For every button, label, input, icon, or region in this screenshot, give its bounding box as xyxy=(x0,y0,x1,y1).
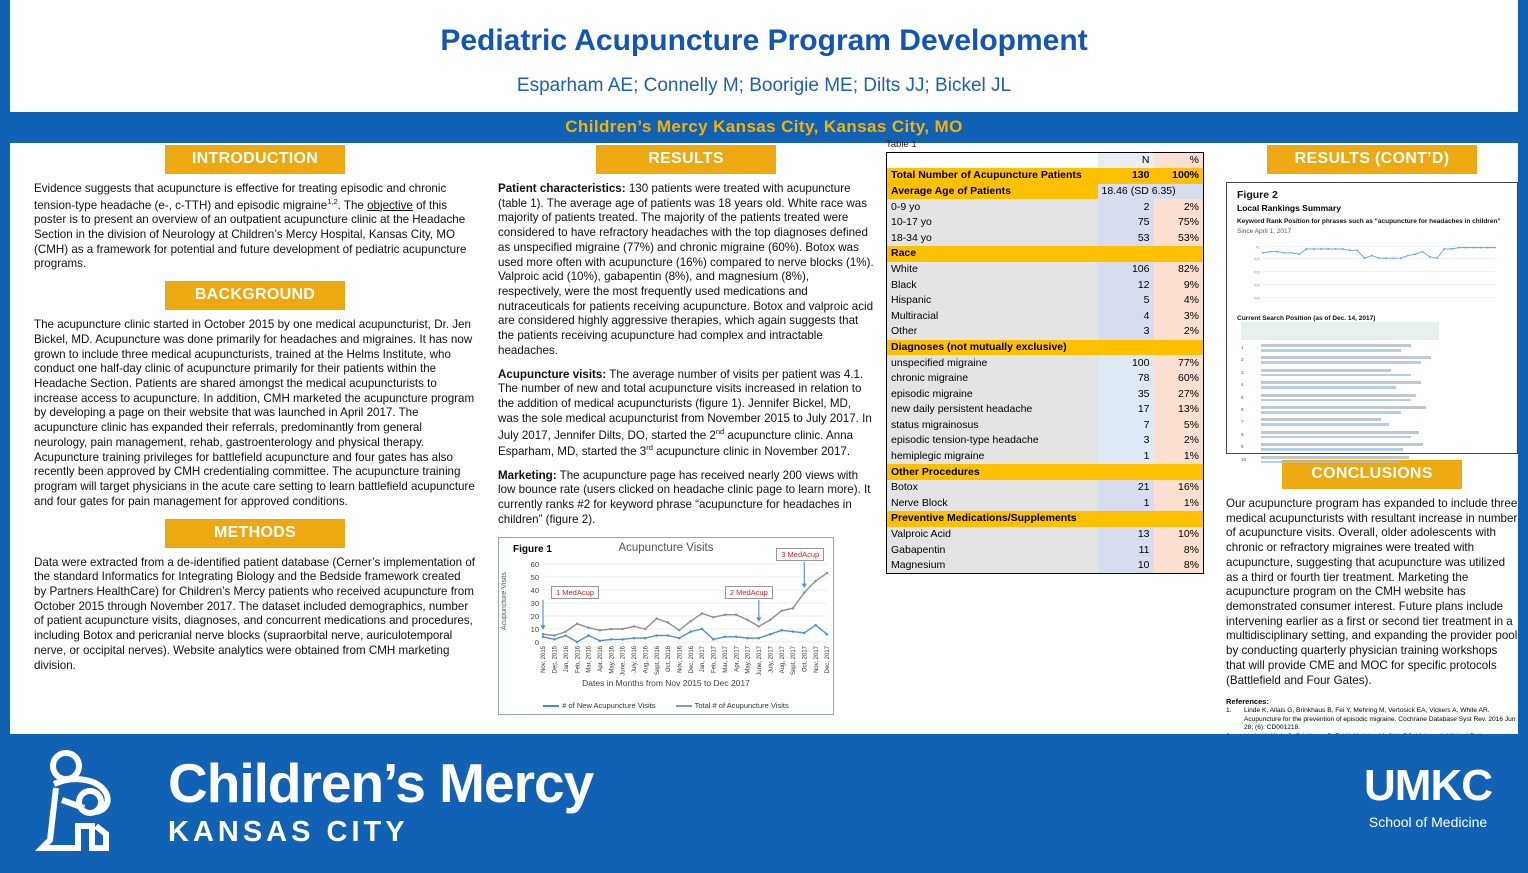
table-1-row-label: Hispanic xyxy=(887,293,1098,309)
childrens-mercy-wordmark: Children’s Mercy KANSAS CITY xyxy=(168,757,593,848)
introduction-text: Evidence suggests that acupuncture is ef… xyxy=(34,182,476,272)
table-1-row-label: Multiracial xyxy=(887,308,1098,324)
results-patient-characteristics: Patient characteristics: 130 patients we… xyxy=(498,182,874,359)
methods-text: Data were extracted from a de-identified… xyxy=(34,556,476,674)
references-heading: References: xyxy=(1226,697,1518,706)
svg-text:July, 2016: July, 2016 xyxy=(632,645,638,673)
table-1-col-head-n: N xyxy=(1098,153,1154,169)
table-row: Botox2116% xyxy=(887,480,1204,496)
figure-2-rank-chart: #1#10#20#30#40 xyxy=(1237,239,1501,311)
list-item[interactable]: 8 xyxy=(1241,430,1491,442)
table-row: Other32% xyxy=(887,324,1204,340)
search-result-title xyxy=(1261,456,1409,459)
table-row: Total Number of Acupuncture Patients1301… xyxy=(887,168,1204,184)
svg-text:June, 2017: June, 2017 xyxy=(757,645,763,675)
figure-1-x-axis-label: Dates in Months from Nov 2015 to Dec 201… xyxy=(499,678,833,688)
figure-2-heading: Local Rankings Summary xyxy=(1227,201,1517,213)
background-text: The acupuncture clinic started in Octobe… xyxy=(34,318,476,509)
list-item[interactable]: 3 xyxy=(1241,368,1491,380)
search-result-rank: 3 xyxy=(1241,370,1244,375)
svg-text:Feb, 2016: Feb, 2016 xyxy=(575,645,581,673)
table-1-row-label: White xyxy=(887,262,1098,278)
svg-text:#30: #30 xyxy=(1254,284,1260,288)
intro-part-2: . The xyxy=(338,199,367,212)
table-1-row-pct: 9% xyxy=(1154,277,1204,293)
svg-text:40: 40 xyxy=(531,586,539,595)
results-p2-label: Acupuncture visits: xyxy=(498,368,606,381)
svg-text:0: 0 xyxy=(535,638,539,647)
table-1-row-n: 3 xyxy=(1098,433,1154,449)
table-1-row-n: 1 xyxy=(1098,496,1154,512)
legend-swatch-grey xyxy=(676,705,692,707)
table-1-row-pct: 2% xyxy=(1154,433,1204,449)
search-result-rank: 7 xyxy=(1241,419,1244,424)
section-heading-background: BACKGROUND xyxy=(165,281,345,310)
table-row: Multiracial43% xyxy=(887,308,1204,324)
list-item[interactable]: 5 xyxy=(1241,393,1491,405)
figure-1-annotation: 3 MedAcup xyxy=(776,548,824,561)
svg-text:June, 2016: June, 2016 xyxy=(621,645,627,675)
table-1-caption: Table 1 xyxy=(886,139,1218,150)
table-1-section-label: Other Procedures xyxy=(887,464,1204,480)
svg-text:20: 20 xyxy=(531,612,539,621)
table-row: Race xyxy=(887,246,1204,262)
search-result-url xyxy=(1261,461,1399,464)
svg-text:Dec, 2017: Dec, 2017 xyxy=(825,645,831,673)
list-item[interactable]: 10 xyxy=(1241,455,1491,467)
figure-1-annotation: 2 MedAcup xyxy=(725,586,773,599)
svg-text:#1: #1 xyxy=(1256,245,1260,249)
table-1-row-label: new daily persistent headache xyxy=(887,402,1098,418)
svg-text:Nov, 2017: Nov, 2017 xyxy=(814,645,820,673)
figure-1-plot: 0102030405060Nov, 2015Dec, 2015Jan, 2016… xyxy=(499,538,835,716)
table-1-row-n: 17 xyxy=(1098,402,1154,418)
table-1-row-pct: 53% xyxy=(1154,230,1204,246)
legend-label-total-visits: Total # of Acupuncture Visits xyxy=(695,701,789,710)
figure-2-since-date: Since April 1, 2017 xyxy=(1227,225,1517,235)
table-row: new daily persistent headache1713% xyxy=(887,402,1204,418)
conclusions-text: Our acupuncture program has expanded to … xyxy=(1226,497,1518,688)
results-p1-label: Patient characteristics: xyxy=(498,182,626,195)
hospital-name-line-1: Children’s Mercy xyxy=(168,757,593,809)
table-1-row-n: 2 xyxy=(1098,199,1154,215)
svg-text:#40: #40 xyxy=(1254,297,1260,301)
svg-text:30: 30 xyxy=(531,599,539,608)
svg-text:Aug, 2016: Aug, 2016 xyxy=(643,645,649,673)
column-results: RESULTS Patient characteristics: 130 pat… xyxy=(490,139,882,734)
figure-1-legend: # of New Acupuncture Visits Total # of A… xyxy=(499,701,833,710)
search-result-rank: 6 xyxy=(1241,407,1244,412)
table-1-row-pct: 27% xyxy=(1154,386,1204,402)
table-1-row-n: 7 xyxy=(1098,418,1154,434)
table-1-row-n: 100 xyxy=(1098,355,1154,371)
umkc-school-label: School of Medicine xyxy=(1364,814,1492,830)
table-1-row-label: Nerve Block xyxy=(887,496,1098,512)
search-result-url xyxy=(1261,423,1389,426)
table-1-row-pct: 2% xyxy=(1154,199,1204,215)
list-item[interactable]: 4 xyxy=(1241,380,1491,392)
table-row: Preventive Medications/Supplements xyxy=(887,511,1204,527)
table-1-row-label: status migrainosus xyxy=(887,418,1098,434)
table-1-row-value-merged: 18.46 (SD 6.35) xyxy=(1098,184,1204,200)
figure-1-annotation: 1 MedAcup xyxy=(551,586,599,599)
table-1-row-label: 10-17 yo xyxy=(887,215,1098,231)
search-result-title xyxy=(1261,443,1423,446)
reference-item: 1.Linde K, Allais G, Brinkhaus B, Fei Y,… xyxy=(1226,707,1518,732)
figure-2-results-list: 12345678910 xyxy=(1241,343,1491,467)
table-1-section-label: Race xyxy=(887,246,1204,262)
table-row: Gabapentin118% xyxy=(887,542,1204,558)
svg-text:Nov, 2016: Nov, 2016 xyxy=(678,645,684,673)
table-1-row-pct: 16% xyxy=(1154,480,1204,496)
intro-objective-underline: objective xyxy=(367,199,413,212)
table-1-header-row: N% xyxy=(887,153,1204,169)
table-1-row-label: hemiplegic migraine xyxy=(887,449,1098,465)
table-1-row-label: Black xyxy=(887,277,1098,293)
table-row: 18-34 yo5353% xyxy=(887,230,1204,246)
search-result-url xyxy=(1261,411,1401,414)
table-1-row-n: 35 xyxy=(1098,386,1154,402)
legend-entry-new-visits: # of New Acupuncture Visits xyxy=(543,701,655,710)
table-1-row-label: episodic migraine xyxy=(887,386,1098,402)
table-1-row-label: Average Age of Patients xyxy=(887,184,1098,200)
legend-label-new-visits: # of New Acupuncture Visits xyxy=(562,701,655,710)
poster-body: INTRODUCTION Evidence suggests that acup… xyxy=(20,139,1528,734)
table-row: hemiplegic migraine11% xyxy=(887,449,1204,465)
search-result-url xyxy=(1261,374,1411,377)
hospital-name-line-2: KANSAS CITY xyxy=(168,816,593,849)
table-1-row-label: 0-9 yo xyxy=(887,199,1098,215)
table-row: Hispanic54% xyxy=(887,293,1204,309)
table-1-row-n: 78 xyxy=(1098,371,1154,387)
svg-text:Aug, 2017: Aug, 2017 xyxy=(780,645,786,673)
table-1-section-label: Diagnoses (not mutually exclusive) xyxy=(887,340,1204,356)
search-result-rank: 1 xyxy=(1241,345,1244,350)
page-title: Pediatric Acupuncture Program Developmen… xyxy=(10,0,1518,58)
search-result-url xyxy=(1261,386,1396,389)
list-item[interactable]: 6 xyxy=(1241,405,1491,417)
table-row: unspecified migraine10077% xyxy=(887,355,1204,371)
table-1-row-pct: 77% xyxy=(1154,355,1204,371)
column-right: RESULTS (CONT’D) Figure 2 Local Rankings… xyxy=(1222,139,1522,734)
svg-text:Oct, 2017: Oct, 2017 xyxy=(802,645,808,672)
table-1-row-label: Other xyxy=(887,324,1098,340)
svg-text:Feb, 2017: Feb, 2017 xyxy=(712,645,718,673)
table-row: 10-17 yo7575% xyxy=(887,215,1204,231)
umkc-wordmark: UMKC xyxy=(1364,764,1492,808)
column-table: Table 1 N%Total Number of Acupuncture Pa… xyxy=(882,139,1222,734)
table-1-row-n: 130 xyxy=(1098,168,1154,184)
search-result-url xyxy=(1261,361,1421,364)
search-result-rank: 5 xyxy=(1241,395,1244,400)
table-1-row-pct: 10% xyxy=(1154,527,1204,543)
section-heading-results: RESULTS xyxy=(596,145,776,174)
table-1-row-label: Botox xyxy=(887,480,1098,496)
table-1-row-label: Total Number of Acupuncture Patients xyxy=(887,168,1098,184)
results-p2-body-c: acupuncture clinic in November 2017. xyxy=(653,445,850,458)
section-heading-methods: METHODS xyxy=(165,519,345,548)
svg-text:#10: #10 xyxy=(1254,257,1260,261)
table-1-row-n: 10 xyxy=(1098,558,1154,574)
table-1-row-n: 12 xyxy=(1098,277,1154,293)
childrens-mercy-mark-icon xyxy=(32,748,152,858)
table-row: episodic migraine3527% xyxy=(887,386,1204,402)
umkc-logo: UMKC School of Medicine xyxy=(1364,764,1492,830)
table-1-section-label: Preventive Medications/Supplements xyxy=(887,511,1204,527)
search-result-title xyxy=(1261,418,1381,421)
list-item[interactable]: 7 xyxy=(1241,417,1491,429)
table-1-row-n: 13 xyxy=(1098,527,1154,543)
table-row: Nerve Block11% xyxy=(887,496,1204,512)
table-1-row-n: 11 xyxy=(1098,542,1154,558)
svg-text:Oct, 2016: Oct, 2016 xyxy=(666,645,672,672)
table-row: White10682% xyxy=(887,262,1204,278)
svg-text:50: 50 xyxy=(531,573,539,582)
figure-2-current-position-heading: Current Search Position (as of Dec. 14, … xyxy=(1227,311,1517,322)
search-result-rank: 2 xyxy=(1241,357,1244,362)
search-result-url xyxy=(1261,399,1411,402)
table-1-row-label: chronic migraine xyxy=(887,371,1098,387)
figure-1-acupuncture-visits-chart: Acupuncture Visits Figure 1 Acupuncture … xyxy=(498,537,834,715)
search-result-url xyxy=(1261,436,1411,439)
table-1-row-label: 18-34 yo xyxy=(887,230,1098,246)
table-1-row-n: 53 xyxy=(1098,230,1154,246)
figure-2-plot: #1#10#20#30#40 xyxy=(1237,239,1501,311)
author-list: Esparham AE; Connelly M; Boorigie ME; Di… xyxy=(10,58,1518,112)
table-1-row-pct: 82% xyxy=(1154,262,1204,278)
section-heading-results-contd: RESULTS (CONT’D) xyxy=(1267,145,1477,174)
search-result-title xyxy=(1261,406,1426,409)
table-1-row-n: 75 xyxy=(1098,215,1154,231)
svg-text:Apr, 2016: Apr, 2016 xyxy=(598,645,604,671)
table-1-row-pct: 60% xyxy=(1154,371,1204,387)
table-1-row-pct: 8% xyxy=(1154,558,1204,574)
search-result-rank: 8 xyxy=(1241,432,1244,437)
search-result-url xyxy=(1261,448,1403,451)
column-left: INTRODUCTION Evidence suggests that acup… xyxy=(20,139,490,734)
figure-2-results-table-header xyxy=(1241,322,1439,340)
list-item[interactable]: 9 xyxy=(1241,442,1491,454)
svg-text:May, 2017: May, 2017 xyxy=(746,645,752,673)
reference-number: 1. xyxy=(1226,707,1238,732)
table-1-row-label: Gabapentin xyxy=(887,542,1098,558)
svg-text:July, 2017: July, 2017 xyxy=(768,645,774,673)
table-1-row-n: 4 xyxy=(1098,308,1154,324)
figure-2-label: Figure 2 xyxy=(1227,183,1517,201)
table-row: Other Procedures xyxy=(887,464,1204,480)
results-p2-sup-a: nd xyxy=(716,427,724,436)
table-1-row-n: 5 xyxy=(1098,293,1154,309)
svg-text:10: 10 xyxy=(531,625,539,634)
table-1-row-n: 106 xyxy=(1098,262,1154,278)
results-marketing: Marketing: The acupuncture page has rece… xyxy=(498,469,874,528)
table-1-row-pct: 2% xyxy=(1154,324,1204,340)
childrens-mercy-logo: Children’s Mercy KANSAS CITY xyxy=(32,748,593,858)
search-result-title xyxy=(1261,356,1431,359)
svg-text:Dec, 2015: Dec, 2015 xyxy=(553,645,559,673)
svg-text:Sept, 2016: Sept, 2016 xyxy=(655,645,661,675)
table-1-row-label: episodic tension-type headache xyxy=(887,433,1098,449)
svg-text:#20: #20 xyxy=(1254,270,1260,274)
table-row: Magnesium108% xyxy=(887,558,1204,574)
table-1-row-n: 1 xyxy=(1098,449,1154,465)
svg-text:Jan, 2017: Jan, 2017 xyxy=(700,645,706,672)
svg-text:Sept, 2017: Sept, 2017 xyxy=(791,645,797,675)
search-result-title xyxy=(1261,344,1411,347)
intro-superscript: 1,2 xyxy=(327,197,337,206)
poster-canvas: Pediatric Acupuncture Program Developmen… xyxy=(0,0,1528,873)
table-1-row-pct: 5% xyxy=(1154,418,1204,434)
table-1-row-n: 21 xyxy=(1098,480,1154,496)
svg-text:60: 60 xyxy=(531,560,539,569)
svg-text:Apr, 2017: Apr, 2017 xyxy=(734,645,740,671)
search-result-title xyxy=(1261,394,1416,397)
svg-text:Jan, 2016: Jan, 2016 xyxy=(564,645,570,672)
search-result-rank: 9 xyxy=(1241,444,1244,449)
table-1-row-label: Magnesium xyxy=(887,558,1098,574)
results-p1-body: 130 patients were treated with acupunctu… xyxy=(498,182,874,357)
search-result-title xyxy=(1261,381,1421,384)
svg-text:Dec, 2016: Dec, 2016 xyxy=(689,645,695,673)
figure-2-local-rankings: Figure 2 Local Rankings Summary Keyword … xyxy=(1226,182,1518,454)
search-result-rank: 10 xyxy=(1241,457,1246,462)
footer-bar: Children’s Mercy KANSAS CITY UMKC School… xyxy=(10,734,1528,873)
table-1-row-label: Valproic Acid xyxy=(887,527,1098,543)
legend-entry-total-visits: Total # of Acupuncture Visits xyxy=(676,701,789,710)
list-item[interactable]: 1 xyxy=(1241,343,1491,355)
search-result-rank: 4 xyxy=(1241,382,1244,387)
table-1-row-pct: 4% xyxy=(1154,293,1204,309)
results-p2-sup-b: rd xyxy=(646,443,653,452)
table-1: N%Total Number of Acupuncture Patients13… xyxy=(886,152,1204,574)
table-row: Black129% xyxy=(887,277,1204,293)
table-1-row-pct: 3% xyxy=(1154,308,1204,324)
table-row: episodic tension-type headache32% xyxy=(887,433,1204,449)
table-1-row-pct: 1% xyxy=(1154,496,1204,512)
table-1-row-pct: 8% xyxy=(1154,542,1204,558)
table-1-row-pct: 75% xyxy=(1154,215,1204,231)
results-acupuncture-visits: Acupuncture visits: The average number o… xyxy=(498,368,874,460)
legend-swatch-blue xyxy=(543,705,559,707)
table-1-row-n: 3 xyxy=(1098,324,1154,340)
table-row: Diagnoses (not mutually exclusive) xyxy=(887,340,1204,356)
results-p3-label: Marketing: xyxy=(498,469,557,482)
section-heading-introduction: INTRODUCTION xyxy=(165,145,345,174)
list-item[interactable]: 2 xyxy=(1241,355,1491,367)
table-1-col-head-blank xyxy=(887,153,1098,169)
table-row: 0-9 yo22% xyxy=(887,199,1204,215)
table-1-row-pct: 100% xyxy=(1154,168,1204,184)
svg-text:Mar, 2016: Mar, 2016 xyxy=(587,645,593,672)
search-result-title xyxy=(1261,431,1419,434)
figure-2-subheading: Keyword Rank Position for phrases such a… xyxy=(1227,213,1517,225)
table-1-row-pct: 1% xyxy=(1154,449,1204,465)
search-result-url xyxy=(1261,349,1401,352)
svg-text:Mar, 2017: Mar, 2017 xyxy=(723,645,729,672)
table-row: Valproic Acid1310% xyxy=(887,527,1204,543)
table-1-col-head-pct: % xyxy=(1154,153,1204,169)
svg-text:May, 2016: May, 2016 xyxy=(609,645,615,673)
reference-text: Linde K, Allais G, Brinkhaus B, Fei Y, M… xyxy=(1244,707,1518,732)
table-row: Average Age of Patients18.46 (SD 6.35) xyxy=(887,184,1204,200)
table-1-row-label: unspecified migraine xyxy=(887,355,1098,371)
table-row: chronic migraine7860% xyxy=(887,371,1204,387)
search-result-title xyxy=(1261,369,1391,372)
table-1-row-pct: 13% xyxy=(1154,402,1204,418)
svg-text:Nov, 2015: Nov, 2015 xyxy=(541,645,547,673)
table-row: status migrainosus75% xyxy=(887,418,1204,434)
